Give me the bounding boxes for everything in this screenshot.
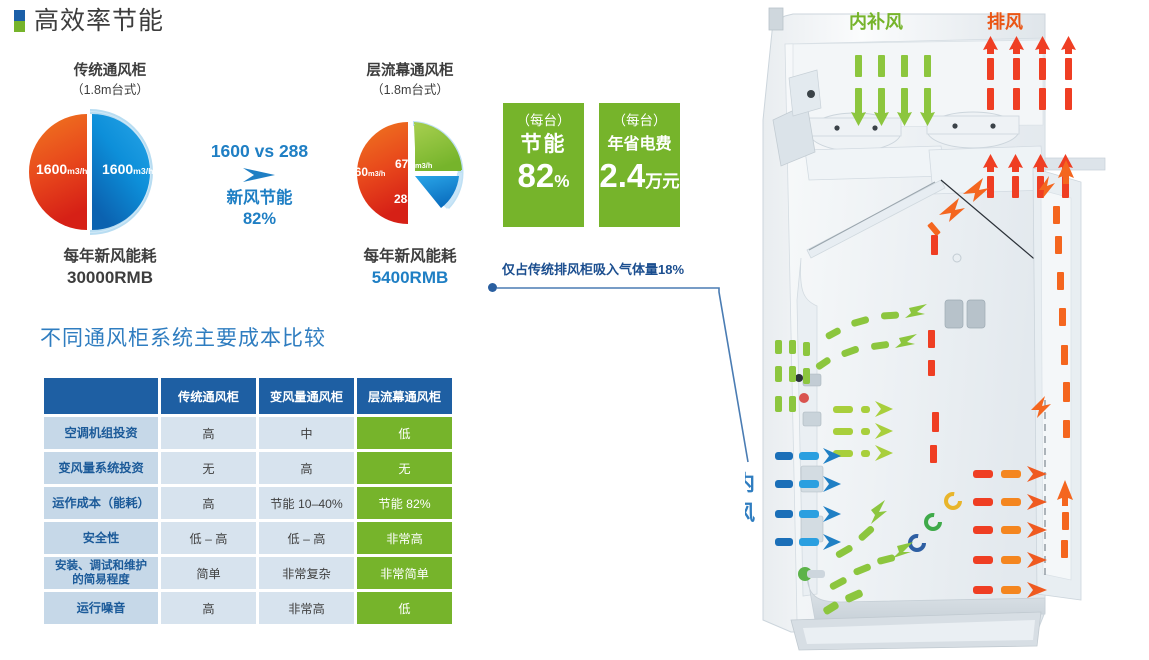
pie-block-laminar: 层流幕通风柜 （1.8m台式） <box>320 62 500 99</box>
room-air-label-line2: 新风 <box>745 500 755 527</box>
pie-label-traditional-exhaust: 1600m3/h <box>36 161 87 177</box>
pie-label-value: 1600 <box>102 161 133 177</box>
row-label: 空调机组投资 <box>44 417 158 449</box>
pie-footer-laminar: 每年新风能耗 5400RMB <box>320 246 500 289</box>
cost-comparison-table: 传统通风柜 变风量通风柜 层流幕通风柜 空调机组投资 高 中 低 变风量系统投资… <box>41 375 455 627</box>
infographic-page: 高效率节能 传统通风柜 （1.8m台式） <box>0 0 1149 660</box>
page-title: 高效率节能 <box>34 8 164 34</box>
airflow-dash-green-horizontal <box>833 401 893 461</box>
callout-leader-line <box>490 280 770 480</box>
row-cell-laminar: 非常高 <box>357 522 452 554</box>
table-section-title: 不同通风柜系统主要成本比较 <box>40 322 326 352</box>
table-header-row: 传统通风柜 变风量通风柜 层流幕通风柜 <box>44 378 452 414</box>
pie-footer-line2: 30000RMB <box>20 267 200 289</box>
row-cell-vav: 高 <box>259 452 354 484</box>
callout-label: 仅占传统排风柜吸入气体量18% <box>502 259 684 278</box>
badge-mid-label: 节能 <box>503 131 584 158</box>
row-cell-vav: 中 <box>259 417 354 449</box>
row-cell-traditional: 无 <box>161 452 256 484</box>
row-cell-traditional: 低 – 高 <box>161 522 256 554</box>
saving-label: 新风节能 <box>192 188 327 209</box>
pie-footer-traditional: 每年新风能耗 30000RMB <box>20 246 200 289</box>
table-row: 变风量系统投资 无 高 无 <box>44 452 452 484</box>
pie-subtitle-laminar: （1.8m台式） <box>320 81 500 99</box>
exhaust-air-label: 排风 <box>987 8 1023 34</box>
pie-block-traditional: 传统通风柜 （1.8m台式） <box>20 62 200 99</box>
pie-label-value: 1600 <box>36 161 67 177</box>
pie-footer-line1: 每年新风能耗 <box>320 246 500 267</box>
table-row: 运作成本（能耗） 高 节能 10–40% 节能 82% <box>44 487 452 519</box>
pie-label-value: 672 <box>395 157 415 171</box>
table-row: 安装、调试和维护的简易程度 简单 非常复杂 非常简单 <box>44 557 452 589</box>
row-cell-vav: 低 – 高 <box>259 522 354 554</box>
comparison-summary: 1600 vs 288 新风节能 82% <box>192 140 327 230</box>
row-label: 运行噪音 <box>44 592 158 624</box>
pie-label-laminar-recirc: 672m3/h <box>395 157 432 171</box>
table-row: 运行噪音 高 非常高 低 <box>44 592 452 624</box>
row-cell-vav: 非常高 <box>259 592 354 624</box>
arrow-right-icon <box>239 164 281 186</box>
row-label: 变风量系统投资 <box>44 452 158 484</box>
table-header-corner <box>44 378 158 414</box>
pie-label-laminar-fresh: 288m3/h <box>394 192 431 206</box>
row-cell-traditional: 高 <box>161 417 256 449</box>
pie-title-laminar: 层流幕通风柜 <box>320 62 500 81</box>
saving-value: 82% <box>192 209 327 230</box>
row-cell-traditional: 简单 <box>161 557 256 589</box>
row-cell-traditional: 高 <box>161 592 256 624</box>
table-row: 空调机组投资 高 中 低 <box>44 417 452 449</box>
row-cell-laminar: 节能 82% <box>357 487 452 519</box>
badge-big-value: 82% <box>503 158 584 199</box>
table-row: 安全性 低 – 高 低 – 高 非常高 <box>44 522 452 554</box>
vs-text: 1600 vs 288 <box>192 140 327 162</box>
badge-unit-label: （每台） <box>503 111 584 131</box>
pie-title-traditional: 传统通风柜 <box>20 62 200 81</box>
row-label: 安全性 <box>44 522 158 554</box>
pie-subtitle-traditional: （1.8m台式） <box>20 81 200 99</box>
header-marker-icon <box>14 10 25 32</box>
pie-label-unit: m3/h <box>414 196 431 205</box>
badge-mid-label: 年省电费 <box>599 131 680 158</box>
row-cell-laminar: 非常简单 <box>357 557 452 589</box>
pie-label-traditional-supply: 1600m3/h <box>102 161 153 177</box>
pie-label-value: 288 <box>394 192 414 206</box>
room-air-label-line1: 室内 <box>745 470 755 497</box>
row-cell-vav: 节能 10–40% <box>259 487 354 519</box>
row-cell-vav: 非常复杂 <box>259 557 354 589</box>
pie-footer-line1: 每年新风能耗 <box>20 246 200 267</box>
pie-label-unit: m3/h <box>67 166 87 176</box>
row-cell-laminar: 无 <box>357 452 452 484</box>
fume-hood-illustration: 内补风 排风 室内 新风 <box>745 0 1149 660</box>
badge-big-value: 2.4万元 <box>599 158 680 199</box>
badge-unit-label: （每台） <box>599 111 680 131</box>
pie-label-unit: m3/h <box>133 166 153 176</box>
pie-footer-line2: 5400RMB <box>320 267 500 289</box>
table-header-laminar: 层流幕通风柜 <box>357 378 452 414</box>
table-header-vav: 变风量通风柜 <box>259 378 354 414</box>
row-label: 运作成本（能耗） <box>44 487 158 519</box>
fume-hood-diagram <box>745 0 1149 660</box>
badge-annual-savings: （每台） 年省电费 2.4万元 <box>599 103 680 227</box>
row-cell-laminar: 低 <box>357 417 452 449</box>
row-cell-laminar: 低 <box>357 592 452 624</box>
table-header-traditional: 传统通风柜 <box>161 378 256 414</box>
pie-label-unit: m3/h <box>368 169 385 178</box>
inner-supply-air-label: 内补风 <box>849 8 903 34</box>
row-cell-traditional: 高 <box>161 487 256 519</box>
row-label: 安装、调试和维护的简易程度 <box>44 557 158 589</box>
page-header: 高效率节能 <box>14 8 164 34</box>
pie-label-unit: m3/h <box>415 161 432 170</box>
pie-label-laminar-exhaust: 960m3/h <box>348 165 385 179</box>
pie-label-value: 960 <box>348 165 368 179</box>
badge-energy-saving: （每台） 节能 82% <box>503 103 584 227</box>
